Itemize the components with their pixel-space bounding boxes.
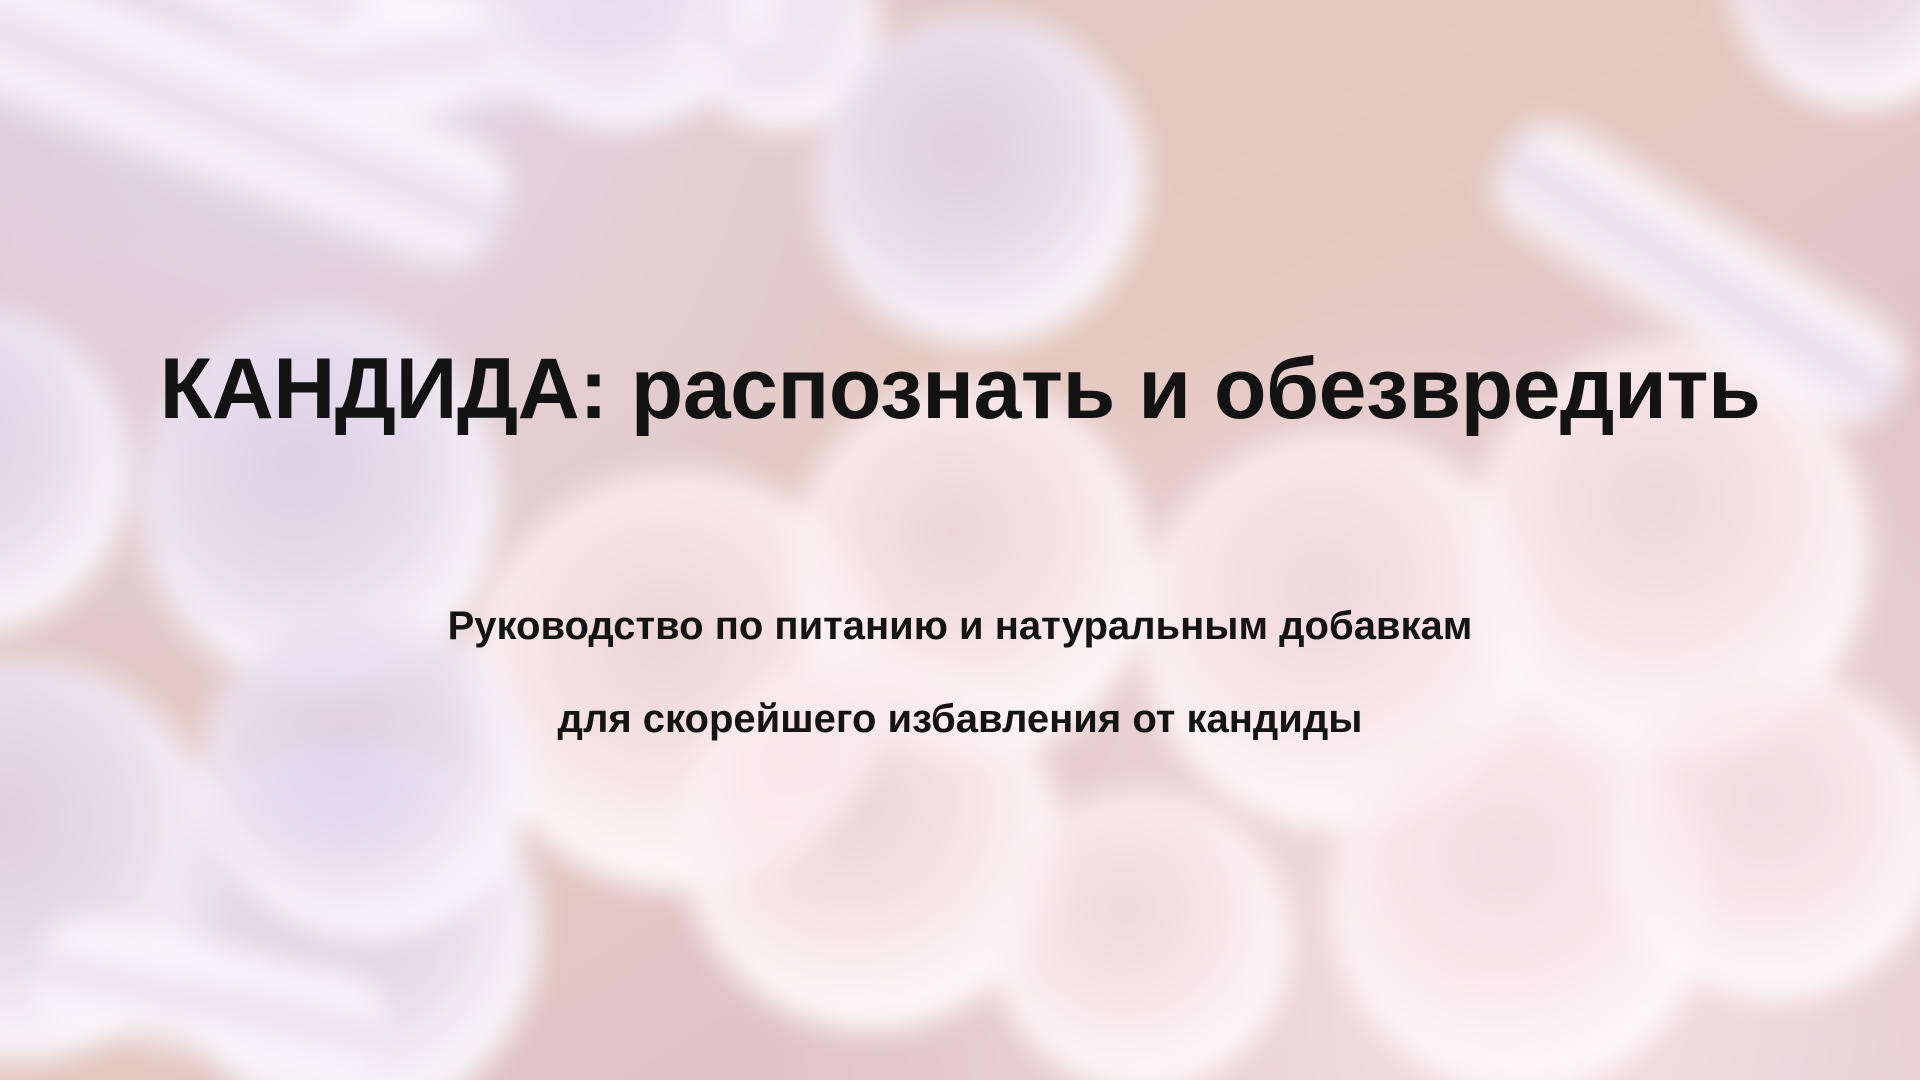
yeast-cell-far-right-top — [1730, 0, 1920, 110]
presentation-slide: КАНДИДА: распознать и обезвредить Руково… — [0, 0, 1920, 1080]
subtitle-line-1: Руководство по питанию и натуральным доб… — [0, 606, 1920, 646]
subtitle-line-2: для скорейшего избавления от кандиды — [0, 699, 1920, 739]
yeast-cell-bottom-center — [990, 790, 1290, 1080]
slide-subtitle: Руководство по питанию и натуральным доб… — [0, 606, 1920, 739]
candida-microscopy-background — [0, 0, 1920, 1080]
page-title: КАНДИДА: распознать и обезвредить — [0, 346, 1920, 432]
yeast-cell-top-c — [815, 15, 1145, 345]
